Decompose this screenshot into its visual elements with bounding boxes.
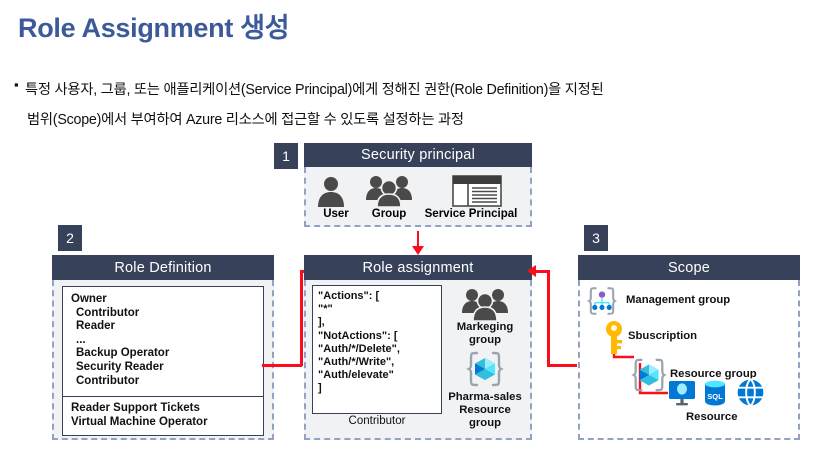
- arrow-scope-to-ra-h1: [547, 364, 577, 367]
- scope-target-label-line2: Resource group: [446, 404, 524, 430]
- scope-label-management-group: Management group: [626, 294, 730, 306]
- custom-roles-card: Reader Support Tickets Virtual Machine O…: [62, 397, 264, 436]
- role-item: ...: [71, 334, 255, 348]
- user-icon: [306, 175, 356, 207]
- bullet-marker: ▪: [14, 75, 25, 95]
- assignee-label-line1: Markeging: [446, 321, 524, 334]
- arrow-rd-to-ra-v: [300, 270, 303, 366]
- label-group: Group: [361, 208, 417, 220]
- arrow-scope-to-ra-head: [527, 265, 536, 277]
- bullet-block: ▪ 특정 사용자, 그룹, 또는 애플리케이션(Service Principa…: [14, 75, 824, 135]
- label-user: User: [311, 208, 361, 220]
- subscription-key-icon: [602, 320, 626, 361]
- json-line: "Auth/*/Write",: [318, 356, 436, 369]
- role-definition-body: Owner Contributor Reader ... Backup Oper…: [52, 280, 274, 440]
- role-definition-json: "Actions": [ "*" ], "NotActions": [ "Aut…: [312, 285, 442, 414]
- json-line: "Auth/*/Delete",: [318, 343, 436, 356]
- role-json-caption: Contributor: [312, 415, 442, 427]
- role-definition-title: Role Definition: [52, 255, 274, 280]
- role-item: Virtual Machine Operator: [71, 416, 255, 430]
- role-item: Owner: [71, 293, 255, 307]
- bullet-line-2: 범위(Scope)에서 부여하여 Azure 리소스에 접근할 수 있도록 설정…: [25, 105, 603, 135]
- role-assignment-panel: Role assignment "Actions": [ "*" ], "Not…: [304, 255, 532, 440]
- resource-group-icon: [446, 347, 524, 391]
- json-line: "Actions": [: [318, 290, 436, 303]
- scope-body: Management group Sbuscription: [578, 280, 800, 440]
- bullet-body: 특정 사용자, 그룹, 또는 애플리케이션(Service Principal)…: [25, 75, 603, 135]
- security-principal-icons: [306, 171, 530, 207]
- scope-panel: Scope Management group: [578, 255, 800, 440]
- json-line: ],: [318, 316, 436, 329]
- arrow-rd-to-ra-h1: [262, 364, 302, 367]
- virtual-machine-icon: [668, 379, 696, 412]
- json-line: "Auth/elevate": [318, 369, 436, 382]
- role-assignment-body: "Actions": [ "*" ], "NotActions": [ "Aut…: [304, 280, 532, 440]
- bullet-line-1: 특정 사용자, 그룹, 또는 애플리케이션(Service Principal)…: [25, 82, 603, 98]
- resource-group-icon: [630, 356, 668, 399]
- json-line: "NotActions": [: [318, 330, 436, 343]
- group-icon: [446, 285, 524, 321]
- role-item: Reader Support Tickets: [71, 402, 255, 416]
- json-line: "*": [318, 303, 436, 316]
- assignee-label-line2: group: [446, 334, 524, 347]
- scope-label-subscription: Sbuscription: [628, 330, 697, 342]
- security-principal-title: Security principal: [304, 143, 532, 167]
- sql-database-icon: SQL: [702, 379, 728, 412]
- step-badge-3: 3: [584, 225, 608, 251]
- scope-label-resource: Resource: [686, 411, 738, 423]
- service-principal-icon: [423, 175, 530, 207]
- svg-text:SQL: SQL: [707, 392, 723, 401]
- role-item: Contributor: [71, 375, 255, 389]
- role-item: Contributor: [71, 307, 255, 321]
- management-group-icon: [586, 285, 618, 322]
- json-line: ]: [318, 382, 436, 395]
- role-item: Backup Operator: [71, 347, 255, 361]
- arrow-sp-to-ra-head: [412, 246, 424, 255]
- role-item: Reader: [71, 320, 255, 334]
- role-definition-panel: Role Definition Owner Contributor Reader…: [52, 255, 274, 440]
- group-icon: [362, 175, 417, 207]
- scope-title: Scope: [578, 255, 800, 280]
- label-service-principal: Service Principal: [417, 208, 525, 220]
- builtin-roles-card: Owner Contributor Reader ... Backup Oper…: [62, 286, 264, 397]
- step-badge-1: 1: [274, 143, 298, 169]
- arrow-scope-to-ra-h2: [536, 270, 549, 273]
- network-icon: [736, 378, 765, 412]
- step-badge-2: 2: [58, 225, 82, 251]
- scope-target-label-line1: Pharma-sales: [446, 391, 524, 404]
- security-principal-labels: User Group Service Principal: [306, 208, 530, 220]
- page-title: Role Assignment 생성: [18, 6, 289, 45]
- role-assignment-title: Role assignment: [304, 255, 532, 280]
- role-item: Security Reader: [71, 361, 255, 375]
- security-principal-body: User Group Service Principal: [304, 167, 532, 227]
- security-principal-panel: Security principal: [304, 143, 532, 227]
- arrow-scope-to-ra-v: [547, 270, 550, 366]
